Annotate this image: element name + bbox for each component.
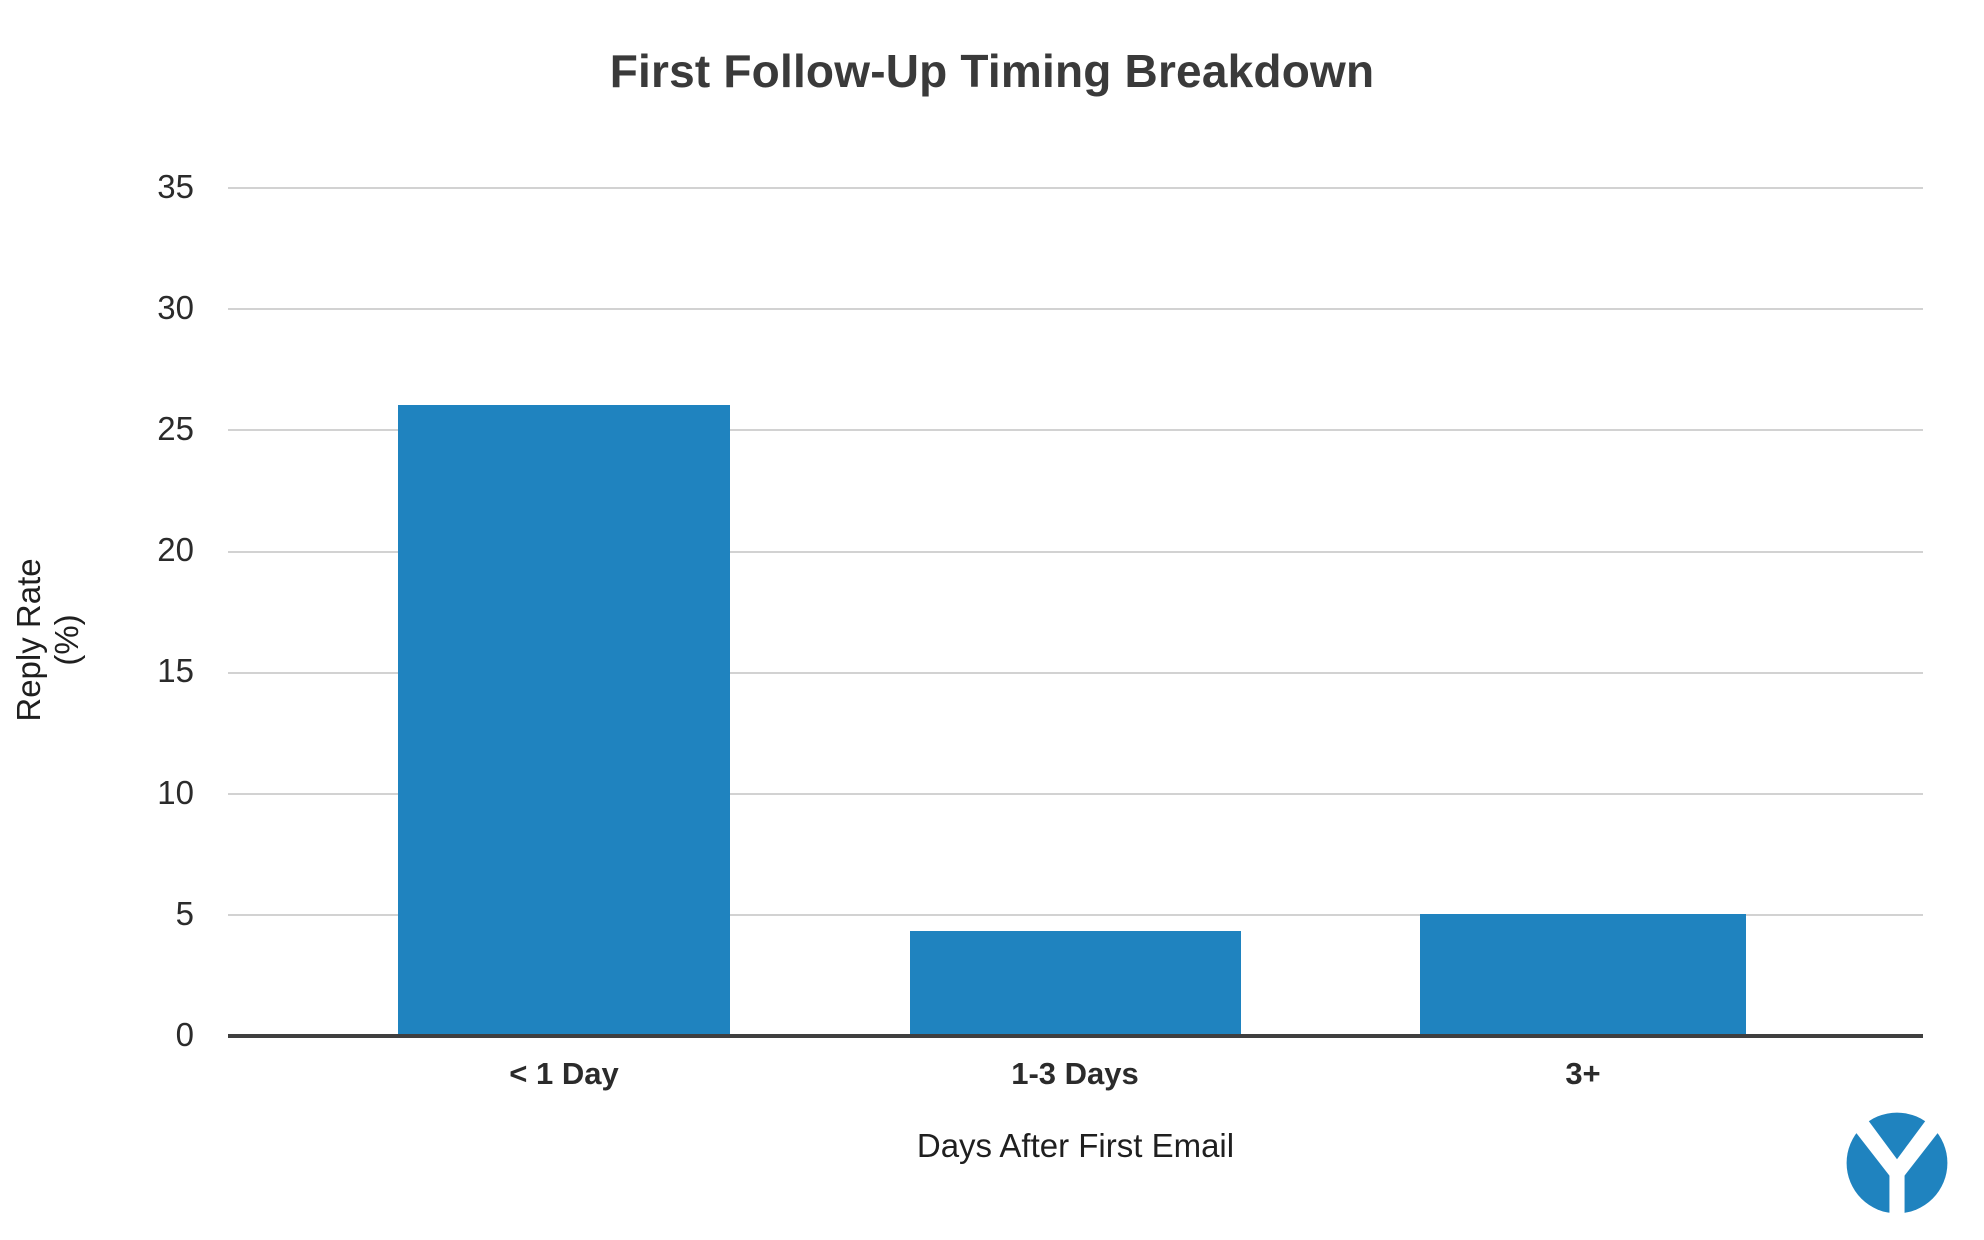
bar-1-3-days[interactable]: [910, 931, 1241, 1035]
y-tick-label-5: 5: [74, 897, 194, 930]
y-monogram-logo: [1834, 1100, 1960, 1226]
y-tick-label-30: 30: [74, 291, 194, 324]
bar-lt-1-day[interactable]: [398, 405, 730, 1035]
y-tick-label-25: 25: [74, 412, 194, 445]
y-tick-label-20: 20: [74, 533, 194, 566]
bar-3-plus[interactable]: [1420, 914, 1746, 1035]
plot-area: [228, 187, 1923, 1035]
x-tick-label-3-plus: 3+: [1357, 1058, 1809, 1089]
gridline-35: [228, 187, 1923, 189]
x-tick-label-lt-1-day: < 1 Day: [338, 1058, 790, 1089]
chart-container: First Follow-Up Timing Breakdown Reply R…: [0, 0, 1984, 1240]
y-tick-label-0: 0: [74, 1018, 194, 1051]
x-axis-line: [228, 1034, 1923, 1038]
y-tick-label-15: 15: [74, 654, 194, 687]
y-tick-label-10: 10: [74, 776, 194, 809]
x-tick-label-1-3-days: 1-3 Days: [849, 1058, 1301, 1089]
y-tick-label-35: 35: [74, 170, 194, 203]
x-axis-title: Days After First Email: [228, 1127, 1923, 1165]
gridline-30: [228, 308, 1923, 310]
chart-title: First Follow-Up Timing Breakdown: [0, 44, 1984, 98]
